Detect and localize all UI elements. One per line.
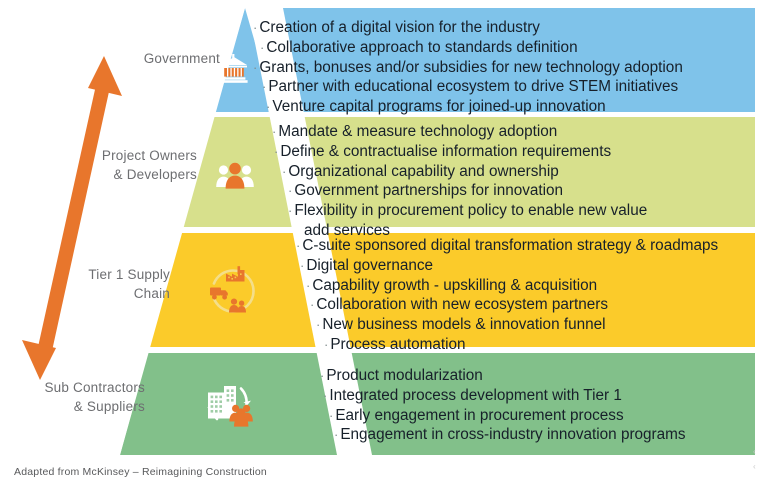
tier-label-project-owners-developers: Project Owners & Developers: [50, 147, 197, 184]
tier-label-government: Government: [50, 50, 220, 69]
government-building-icon: [217, 52, 251, 86]
tier-1-bullet-3: ·Partner with educational ecosystem to d…: [253, 77, 753, 97]
tier-3-bullet-1: ·Digital governance: [296, 256, 756, 276]
tier-2-bullet-list: ·Mandate & measure technology adoption ·…: [272, 122, 752, 241]
tier-3-bullet-3: ·Collaboration with new ecosystem partne…: [296, 295, 756, 315]
tier-1-bullet-2: ·Grants, bonuses and/or subsidies for ne…: [253, 58, 753, 78]
edge-artifact-mark: ‹: [753, 462, 756, 471]
tier-2-bullet-1: ·Define & contractualise information req…: [272, 142, 752, 162]
tier-4-bullet-0: ·Product modularization: [320, 366, 760, 386]
factory-glyph: [226, 266, 245, 281]
tier-4-bullet-2: ·Early engagement in procurement process: [320, 406, 760, 426]
tier-3-bullet-0: ·C-suite sponsored digital transformatio…: [296, 236, 756, 256]
tier-1-bullet-1: ·Collaborative approach to standards def…: [253, 38, 753, 58]
factory-truck-supply-chain-icon: [204, 262, 262, 318]
tier-3-bullet-5: ·Process automation: [296, 335, 756, 355]
people-glyph: [229, 299, 246, 313]
tier-4-bullet-3: ·Engagement in cross-industry innovation…: [320, 425, 760, 445]
people-cluster-glyph: [229, 405, 252, 427]
tier-2-bullet-4: ·Flexibility in procurement policy to en…: [272, 201, 752, 221]
tier-2-bullet-3: ·Government partnerships for innovation: [272, 181, 752, 201]
arrow-shape: [22, 56, 122, 380]
tier-label-sub-contractors-suppliers: Sub Contractors & Suppliers: [0, 379, 145, 416]
tier-1-bullet-list: ·Creation of a digital vision for the in…: [253, 18, 753, 117]
tier-3-bullet-list: ·C-suite sponsored digital transformatio…: [296, 236, 756, 355]
tier-label-tier-1-supply-chain: Tier 1 Supply Chain: [30, 266, 170, 303]
tier-3-bullet-2: ·Capability growth - upskilling & acquis…: [296, 276, 756, 296]
building-people-cycle-icon: [200, 378, 262, 432]
source-attribution: Adapted from McKinsey – Reimagining Cons…: [14, 466, 267, 478]
tier-1-bullet-4: ·Venture capital programs for joined-up …: [253, 97, 753, 117]
tier-1-bullet-0: ·Creation of a digital vision for the in…: [253, 18, 753, 38]
tier-4-bullet-1: ·Integrated process development with Tie…: [320, 386, 760, 406]
edge-artifact-mark: ‹: [753, 447, 756, 456]
pyramid-diagram: Government Project Owners & Developers T…: [0, 0, 764, 488]
tier-2-bullet-2: ·Organizational capability and ownership: [272, 162, 752, 182]
tier-4-bullet-list: ·Product modularization ·Integrated proc…: [320, 366, 760, 445]
people-group-icon: [215, 160, 255, 194]
two-way-vertical-arrow: [10, 40, 130, 390]
tier-3-bullet-4: ·New business models & innovation funnel: [296, 315, 756, 335]
tier-2-bullet-0: ·Mandate & measure technology adoption: [272, 122, 752, 142]
truck-glyph: [210, 288, 228, 300]
